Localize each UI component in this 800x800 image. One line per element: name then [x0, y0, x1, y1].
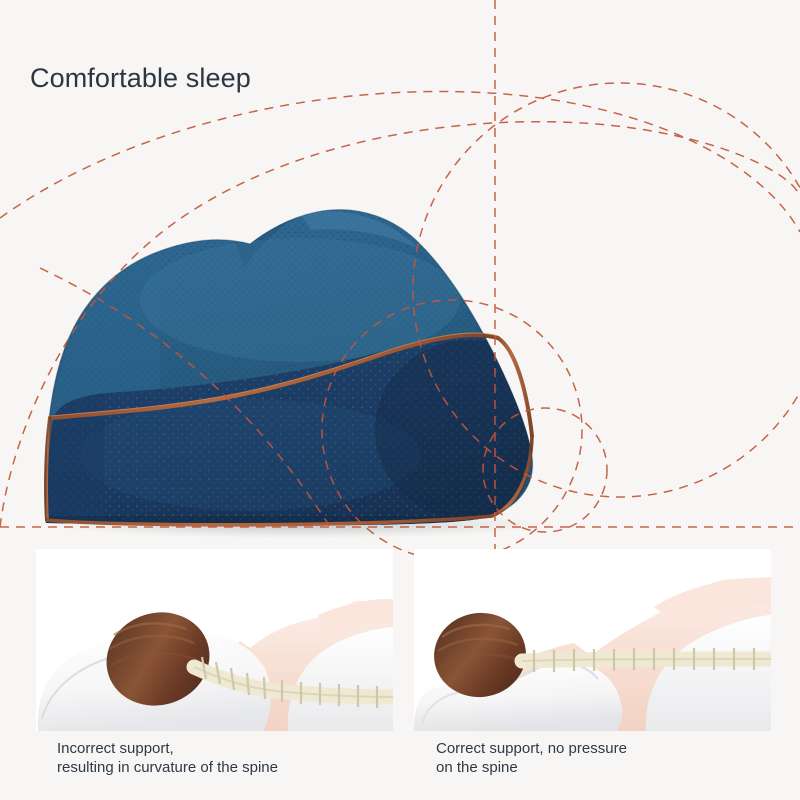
- illustration-correct-support: [414, 549, 771, 731]
- guide-arc-top: [0, 91, 800, 232]
- guide-arc-through-pillow: [0, 122, 800, 527]
- guide-circle-small: [483, 408, 607, 532]
- panel-correct-support: [414, 549, 771, 731]
- page-title: Comfortable sleep: [30, 63, 251, 94]
- product-infographic: Comfortable sleep: [0, 0, 800, 800]
- comparison-panels: [0, 549, 800, 731]
- caption-incorrect-line-1: Incorrect support,: [57, 739, 278, 758]
- panel-incorrect-support: [36, 549, 393, 731]
- guide-arc-diagonal: [40, 268, 330, 527]
- caption-incorrect-line-2: resulting in curvature of the spine: [57, 758, 278, 777]
- guide-circle-large: [413, 83, 800, 497]
- caption-correct-line-2: on the spine: [436, 758, 627, 777]
- guide-circle-mid: [322, 300, 582, 560]
- illustration-incorrect-support: [36, 549, 393, 731]
- caption-correct-line-1: Correct support, no pressure: [436, 739, 627, 758]
- caption-correct-support: Correct support, no pressure on the spin…: [436, 739, 627, 777]
- caption-incorrect-support: Incorrect support, resulting in curvatur…: [57, 739, 278, 777]
- hero-stage: Comfortable sleep: [0, 0, 800, 560]
